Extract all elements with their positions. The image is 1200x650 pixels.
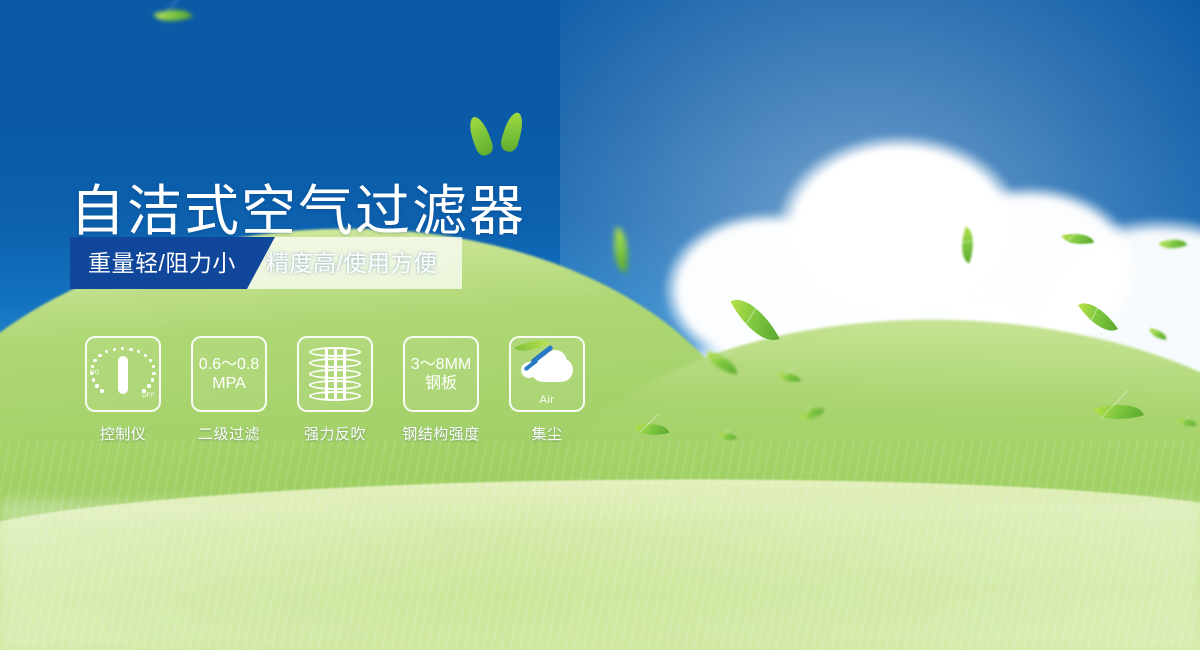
filter-stack-icon bbox=[309, 347, 361, 401]
feature-item-controller[interactable]: NO OFF 控制仪 bbox=[70, 336, 176, 444]
gauge-label-no: NO bbox=[90, 370, 100, 376]
subtitle-bar: 重量轻/阻力小 精度高/使用方便 bbox=[70, 237, 462, 289]
feature-icon-box: NO OFF bbox=[85, 336, 161, 412]
feature-caption: 钢结构强度 bbox=[402, 423, 480, 444]
gauge-dial-icon: NO OFF bbox=[91, 345, 155, 403]
air-cloud-icon: Air bbox=[517, 346, 577, 402]
feature-icon-box bbox=[297, 336, 373, 412]
feature-caption: 二级过滤 bbox=[198, 423, 260, 444]
feature-icon-box: 3～8MM 钢板 bbox=[403, 336, 479, 412]
subtitle-left-text: 重量轻/阻力小 bbox=[88, 237, 236, 289]
gauge-label-off: OFF bbox=[142, 393, 155, 399]
feature-caption: 集尘 bbox=[531, 423, 562, 444]
feature-list: NO OFF 控制仪 0.6～0.8 MPA 二级过滤 bbox=[70, 336, 600, 444]
air-label: Air bbox=[517, 394, 577, 406]
feature-caption: 控制仪 bbox=[100, 423, 147, 444]
feature-icon-box: 0.6～0.8 MPA bbox=[191, 336, 267, 412]
feature-icon-box: Air bbox=[509, 336, 585, 412]
product-banner: 自洁式空气过滤器 重量轻/阻力小 精度高/使用方便 bbox=[0, 0, 1200, 650]
feature-item-back-blow[interactable]: 强力反吹 bbox=[282, 336, 388, 444]
sprout-leaves-icon bbox=[470, 108, 532, 156]
feature-item-dust-collect[interactable]: Air 集尘 bbox=[494, 336, 600, 444]
page-title: 自洁式空气过滤器 bbox=[70, 180, 526, 242]
subtitle-right-text: 精度高/使用方便 bbox=[266, 237, 437, 289]
feature-caption: 强力反吹 bbox=[304, 423, 366, 444]
thickness-text: 3～8MM 钢板 bbox=[411, 355, 471, 393]
feature-item-two-stage[interactable]: 0.6～0.8 MPA 二级过滤 bbox=[176, 336, 282, 444]
pressure-text: 0.6～0.8 MPA bbox=[199, 355, 260, 393]
feature-item-steel-plate[interactable]: 3～8MM 钢板 钢结构强度 bbox=[388, 336, 494, 444]
grass-texture bbox=[0, 440, 1200, 650]
